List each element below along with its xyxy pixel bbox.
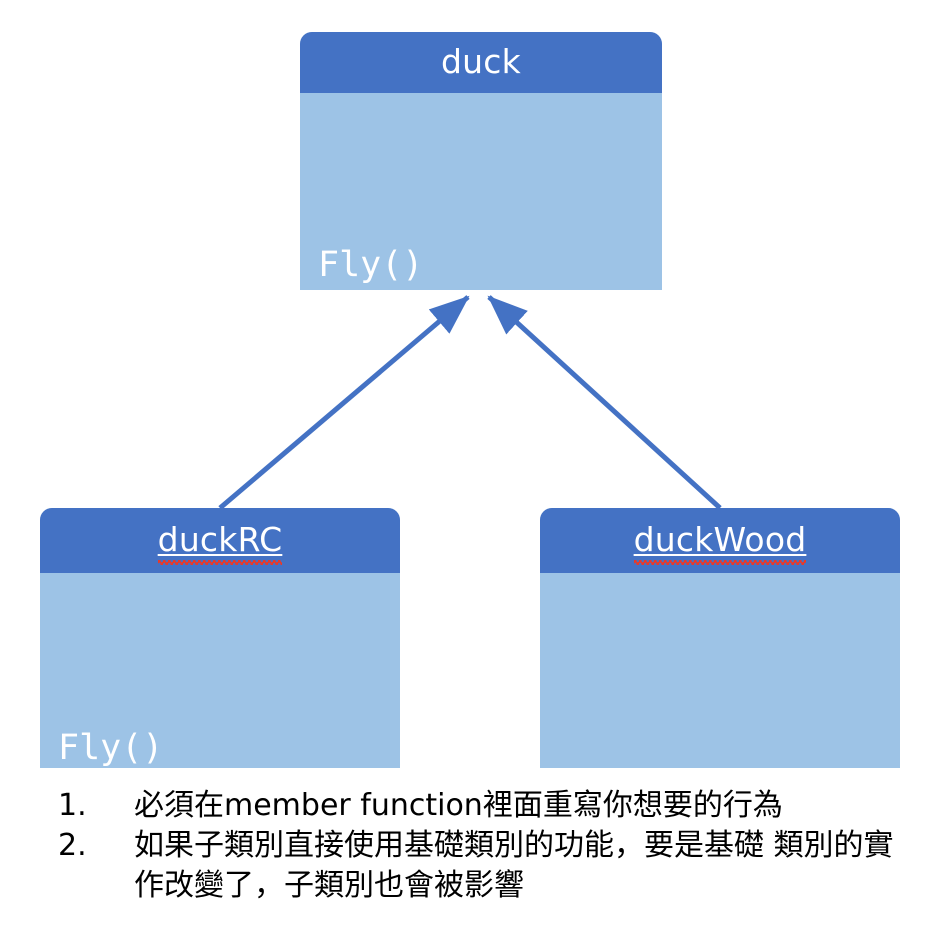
- class-title-wrap-duckrc: duckRC: [158, 523, 283, 556]
- class-title-duckrc: duckRC: [158, 520, 283, 559]
- note-item: 1. 必須在member function裡面重寫你想要的行為: [48, 786, 918, 826]
- spellcheck-squiggle-icon: [158, 560, 283, 565]
- method-duck-fly: Fly(): [318, 240, 662, 291]
- class-box-duck[interactable]: duck Fly() Sound(): [300, 32, 662, 290]
- class-body-duckwood: Fly(): [540, 573, 900, 768]
- class-body-duck: Fly() Sound(): [300, 93, 662, 290]
- class-title-wrap-duck: duck: [441, 45, 521, 78]
- note-number: 1.: [48, 786, 134, 826]
- class-title-wrap-duckwood: duckWood: [634, 523, 807, 556]
- class-body-duckrc: Fly() Sound(): [40, 573, 400, 768]
- class-header-duck: duck: [300, 32, 662, 93]
- note-item: 2. 如果子類別直接使用基礎類別的功能，要是基礎 類別的實作改變了，子類別也會被…: [48, 826, 918, 906]
- arrow-duckrc-to-duck: [220, 297, 468, 508]
- class-header-duckrc: duckRC: [40, 508, 400, 573]
- note-line: 必須在member function裡面重寫你想要的行為: [134, 788, 783, 823]
- notes-list: 1. 必須在member function裡面重寫你想要的行為 2. 如果子類別…: [48, 786, 918, 906]
- arrow-duckwood-to-duck: [489, 297, 720, 508]
- note-text: 必須在member function裡面重寫你想要的行為: [134, 786, 918, 826]
- class-box-duckrc[interactable]: duckRC Fly() Sound(): [40, 508, 400, 768]
- class-title-duckwood: duckWood: [634, 520, 807, 559]
- spellcheck-squiggle-icon: [634, 560, 807, 565]
- note-line: 如果子類別直接使用基礎類別的功能，要是基礎: [134, 828, 764, 863]
- class-header-duckwood: duckWood: [540, 508, 900, 573]
- class-box-duckwood[interactable]: duckWood Fly(): [540, 508, 900, 768]
- note-text: 如果子類別直接使用基礎類別的功能，要是基礎 類別的實作改變了，子類別也會被影響: [134, 826, 918, 906]
- class-title-duck: duck: [441, 42, 521, 81]
- note-number: 2.: [48, 826, 134, 866]
- method-duckrc-fly: Fly(): [58, 723, 400, 769]
